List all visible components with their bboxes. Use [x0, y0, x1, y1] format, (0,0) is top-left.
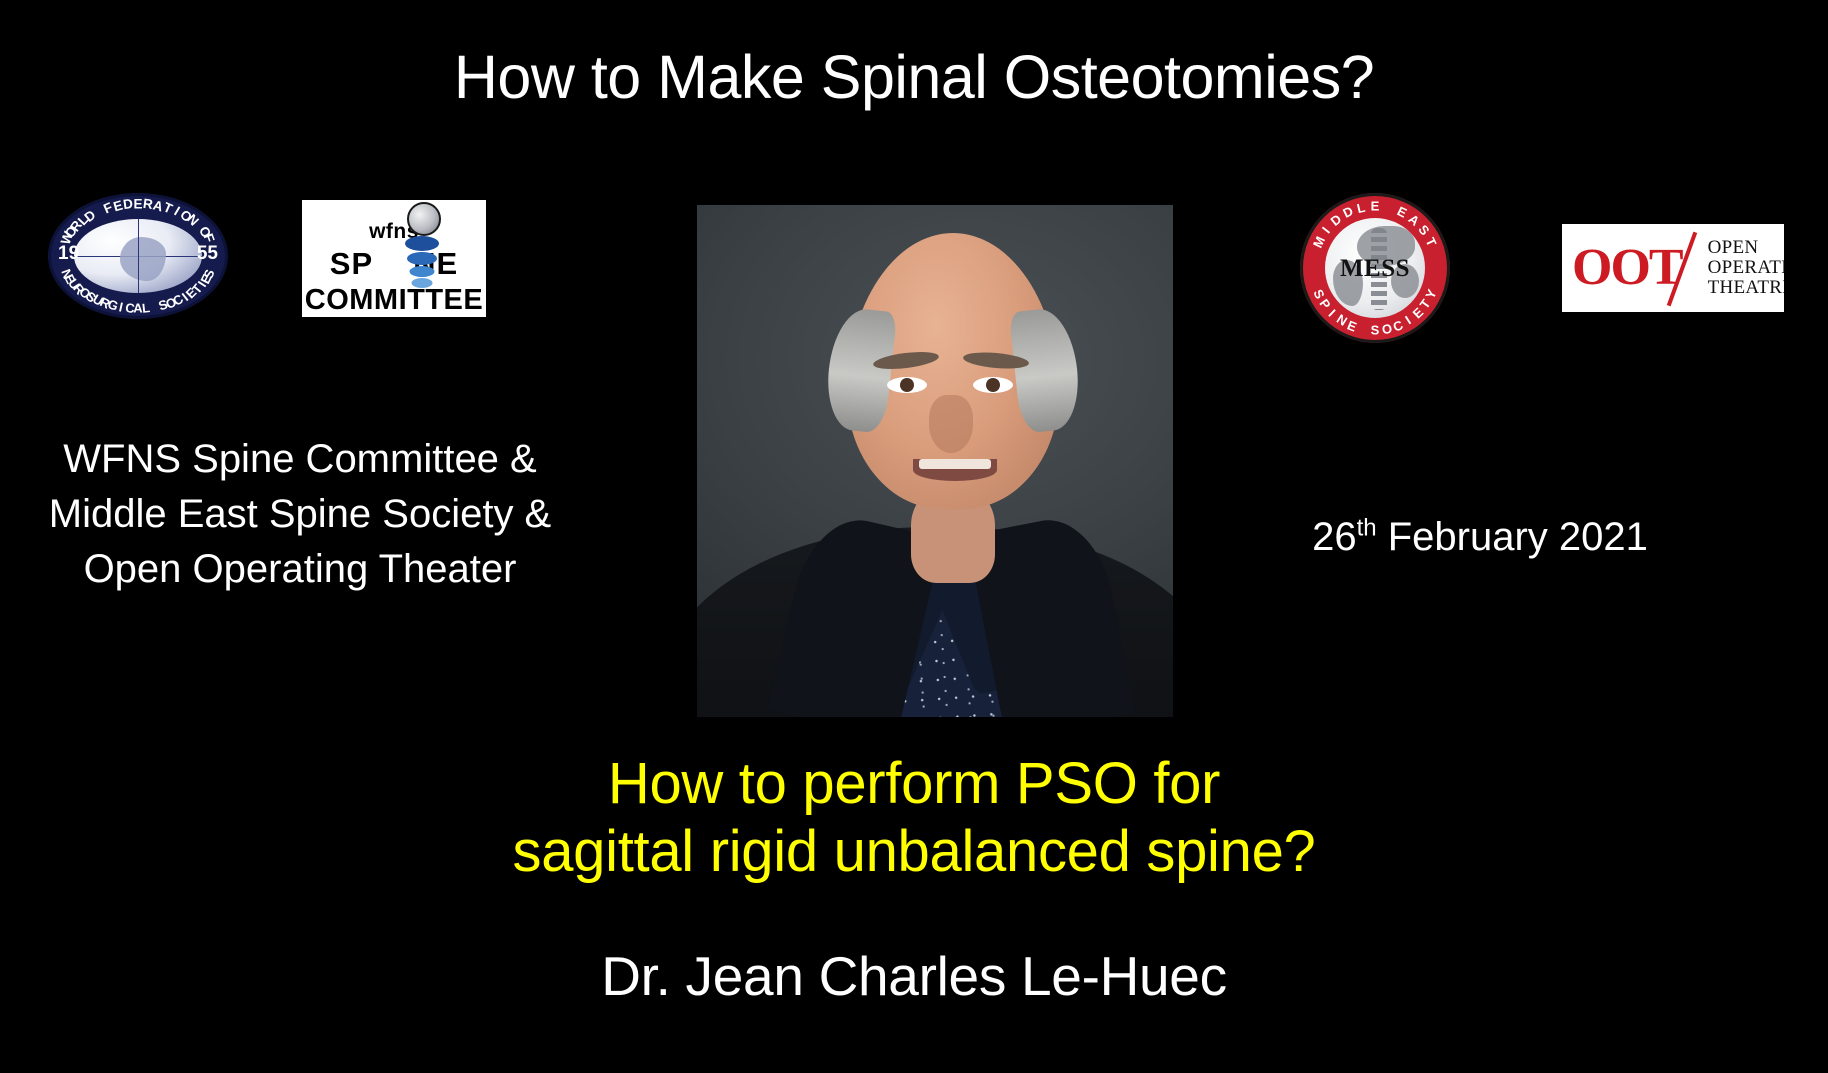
subject-heading: How to perform PSO for sagittal rigid un… [0, 750, 1828, 887]
spine-logo-row-mid: SP NE [302, 246, 486, 282]
mess-center-label: MESS [1300, 255, 1450, 283]
subject-line-2: sagittal rigid unbalanced spine? [0, 818, 1828, 886]
speaker-portrait [697, 205, 1173, 717]
page-title: How to Make Spinal Osteotomies? [0, 44, 1828, 111]
vertebrae-icon [402, 214, 442, 288]
oot-word-theatre: THEATRE [1708, 278, 1784, 298]
wfns-spine-committee-logo: wfns SP NE COMMITTEE [302, 200, 486, 317]
wfns-year-left: 19 [58, 243, 79, 265]
vertebra-icon [412, 278, 433, 288]
organizers-block: WFNS Spine Committee & Middle East Spine… [0, 432, 600, 598]
oot-word-open: OPEN [1708, 238, 1784, 258]
organizer-line-1: WFNS Spine Committee & [0, 432, 600, 487]
vertebra-icon [407, 252, 437, 265]
portrait-mouth [913, 459, 997, 481]
date-ordinal: th [1357, 515, 1377, 542]
speaker-name: Dr. Jean Charles Le-Huec [0, 944, 1828, 1008]
subject-line-1: How to perform PSO for [0, 750, 1828, 818]
wfns-year-right: 55 [197, 243, 218, 265]
oot-subtitle: OPEN OPERATING THEATRE [1708, 238, 1784, 297]
date-rest: February 2021 [1377, 515, 1648, 559]
portrait-eye-left [887, 377, 927, 393]
oot-word-operating: OPERATING [1708, 258, 1784, 278]
spine-logo-row-top: wfns [302, 200, 486, 246]
event-date: 26th February 2021 [1240, 515, 1720, 560]
mess-logo: MESS MIDDLE EAST SPINE SOCIETY [1300, 193, 1450, 343]
portrait-eye-right [973, 377, 1013, 393]
organizer-line-2: Middle East Spine Society & [0, 487, 600, 542]
organizer-line-3: Open Operating Theater [0, 542, 600, 597]
spine-word-left: SP [330, 246, 373, 282]
date-day: 26 [1312, 515, 1357, 559]
presentation-slide: How to Make Spinal Osteotomies? WORLD FE… [0, 0, 1828, 1073]
portrait-nose [929, 395, 973, 453]
vertebra-icon [410, 266, 435, 277]
wfns-logo: WORLD FEDERATION OF NEUROSURGICAL SOCIET… [48, 193, 228, 319]
oot-logo: OOT OPEN OPERATING THEATRE [1562, 224, 1784, 312]
vertebra-icon [405, 236, 439, 251]
spine-committee-label: COMMITTEE [305, 284, 484, 317]
oot-wordmark: OOT [1572, 242, 1682, 294]
